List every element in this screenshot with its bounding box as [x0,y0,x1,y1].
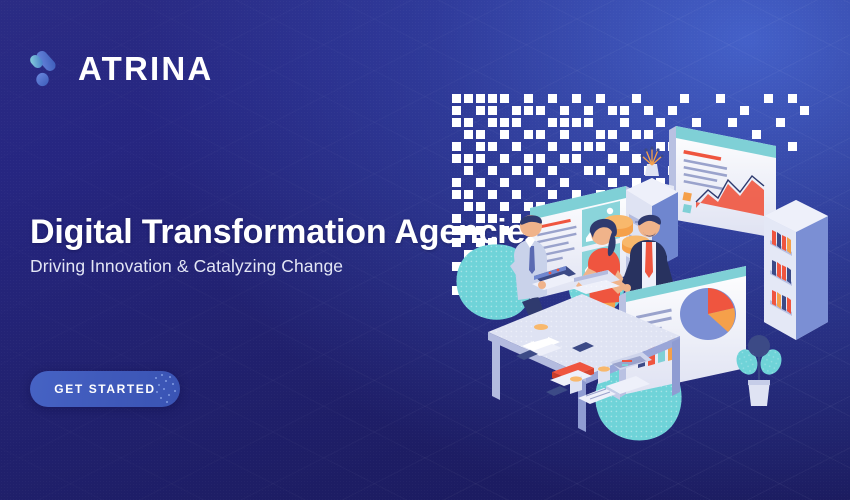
dashboard-screen-chart [669,126,776,238]
brand-name: ATRINA [78,52,213,85]
isometric-office-illustration [430,80,850,440]
get-started-button[interactable]: GET STARTED [30,371,180,407]
brand-logo[interactable]: ATRINA [30,48,213,88]
hero-banner: ATRINA Digital Transformation Agencies D… [0,0,850,500]
bookshelf [764,200,828,340]
atrina-droplet-mark-icon [30,48,68,88]
hero-subheadline: Driving Innovation & Catalyzing Change [30,256,343,277]
illustration-canvas [430,80,850,440]
